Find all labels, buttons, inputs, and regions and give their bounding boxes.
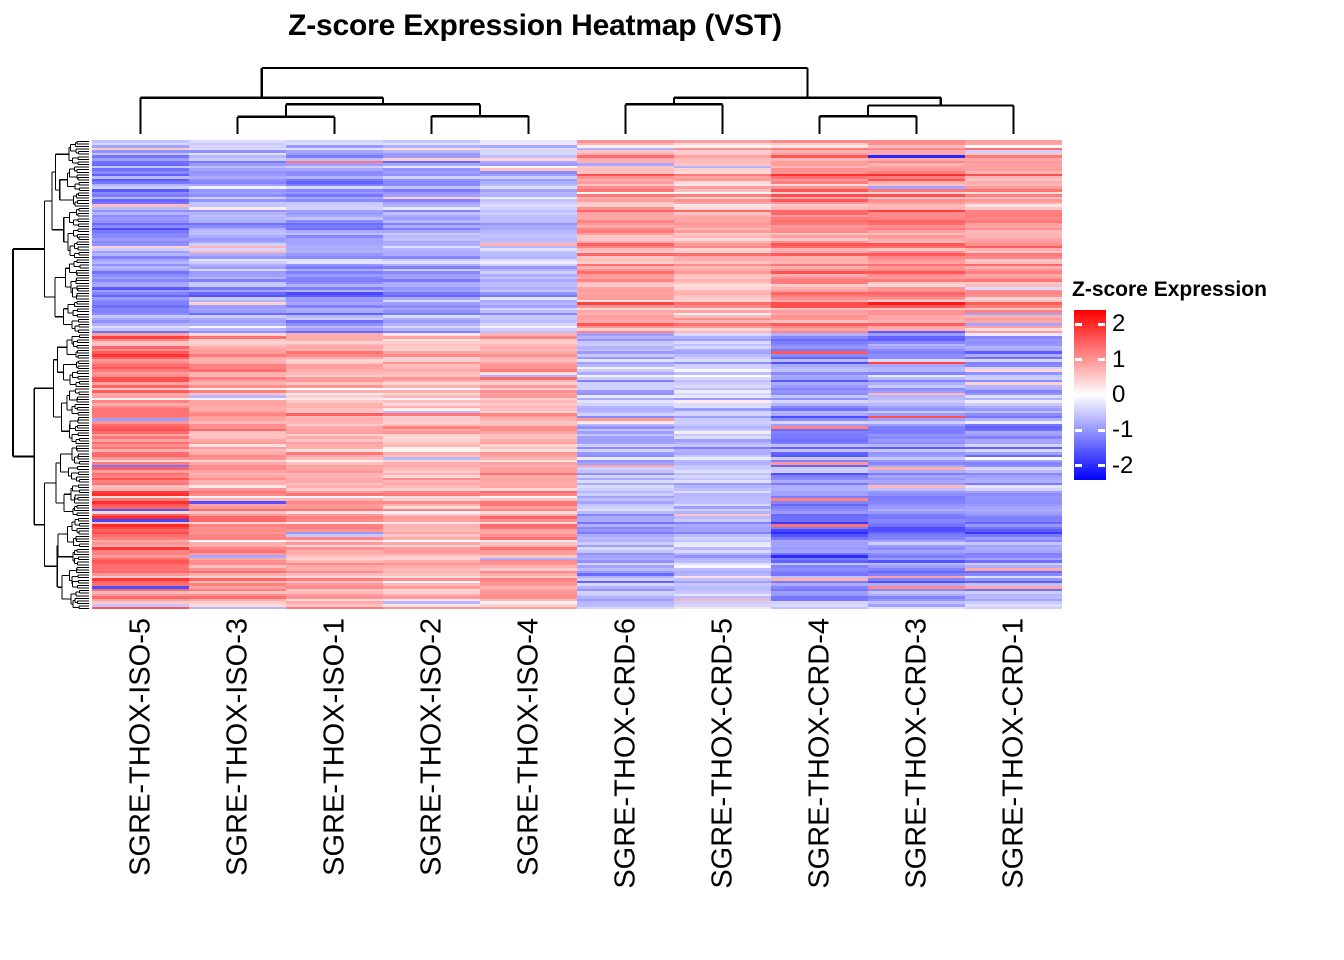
heatmap-cell xyxy=(383,607,480,610)
heatmap-cell xyxy=(480,607,577,610)
legend-tick-mark xyxy=(1075,323,1082,326)
column-label-sgre-thox-crd-6[interactable]: SGRE-THOX-CRD-6 xyxy=(611,618,640,889)
legend-tick-label: -2 xyxy=(1112,454,1133,478)
legend-tick-mark xyxy=(1098,323,1105,326)
legend-tick-label: 1 xyxy=(1112,348,1125,372)
heatmap-cell xyxy=(965,607,1062,610)
column-label-slot: SGRE-THOX-ISO-3 xyxy=(189,610,286,930)
legend-tick-mark xyxy=(1098,358,1105,361)
heatmap-cell xyxy=(286,607,383,610)
column-label-slot: SGRE-THOX-ISO-4 xyxy=(480,610,577,930)
column-label-sgre-thox-iso-1[interactable]: SGRE-THOX-ISO-1 xyxy=(320,618,349,876)
legend-tick-label: 0 xyxy=(1112,383,1125,407)
column-label-sgre-thox-crd-5[interactable]: SGRE-THOX-CRD-5 xyxy=(708,618,737,889)
column-label-sgre-thox-iso-4[interactable]: SGRE-THOX-ISO-4 xyxy=(514,618,543,876)
column-label-sgre-thox-iso-5[interactable]: SGRE-THOX-ISO-5 xyxy=(126,618,155,876)
legend-tick-label: -1 xyxy=(1112,418,1133,442)
legend-title: Z-score Expression xyxy=(1072,278,1267,302)
column-dendrogram xyxy=(92,58,1062,138)
legend-tick-mark xyxy=(1075,464,1082,467)
column-label-sgre-thox-crd-4[interactable]: SGRE-THOX-CRD-4 xyxy=(805,618,834,889)
column-label-sgre-thox-iso-3[interactable]: SGRE-THOX-ISO-3 xyxy=(223,618,252,876)
legend-colorbar-wrap xyxy=(1074,310,1106,480)
legend-tick-mark xyxy=(1075,394,1082,397)
column-label-slot: SGRE-THOX-CRD-1 xyxy=(965,610,1062,930)
legend-tick-mark xyxy=(1098,394,1105,397)
column-label-sgre-thox-crd-1[interactable]: SGRE-THOX-CRD-1 xyxy=(999,618,1028,889)
column-label-slot: SGRE-THOX-CRD-5 xyxy=(674,610,771,930)
legend-tick-mark xyxy=(1075,358,1082,361)
column-label-slot: SGRE-THOX-ISO-5 xyxy=(92,610,189,930)
legend-tick-mark xyxy=(1098,464,1105,467)
column-label-slot: SGRE-THOX-ISO-2 xyxy=(383,610,480,930)
legend-tick-label: 2 xyxy=(1112,312,1125,336)
heatmap-cell xyxy=(674,607,771,610)
legend-tick-mark xyxy=(1098,429,1105,432)
heatmap-grid xyxy=(92,140,1062,610)
row-dendrogram xyxy=(12,140,90,610)
heatmap-cell xyxy=(771,607,868,610)
column-label-axis: SGRE-THOX-ISO-5SGRE-THOX-ISO-3SGRE-THOX-… xyxy=(92,610,1062,930)
column-label-slot: SGRE-THOX-ISO-1 xyxy=(286,610,383,930)
page-title: Z-score Expression Heatmap (VST) xyxy=(0,8,1070,44)
heatmap-cell xyxy=(577,607,674,610)
column-label-slot: SGRE-THOX-CRD-6 xyxy=(577,610,674,930)
column-label-sgre-thox-iso-2[interactable]: SGRE-THOX-ISO-2 xyxy=(417,618,446,876)
column-label-slot: SGRE-THOX-CRD-4 xyxy=(771,610,868,930)
column-label-sgre-thox-crd-3[interactable]: SGRE-THOX-CRD-3 xyxy=(902,618,931,889)
legend-tick-mark xyxy=(1075,429,1082,432)
heatmap-cell xyxy=(92,607,189,610)
heatmap-figure: Z-score Expression Heatmap (VST) SGRE-TH… xyxy=(0,0,1344,960)
heatmap-cell xyxy=(189,607,286,610)
column-label-slot: SGRE-THOX-CRD-3 xyxy=(868,610,965,930)
heatmap-row xyxy=(92,607,1062,610)
heatmap-cell xyxy=(868,607,965,610)
